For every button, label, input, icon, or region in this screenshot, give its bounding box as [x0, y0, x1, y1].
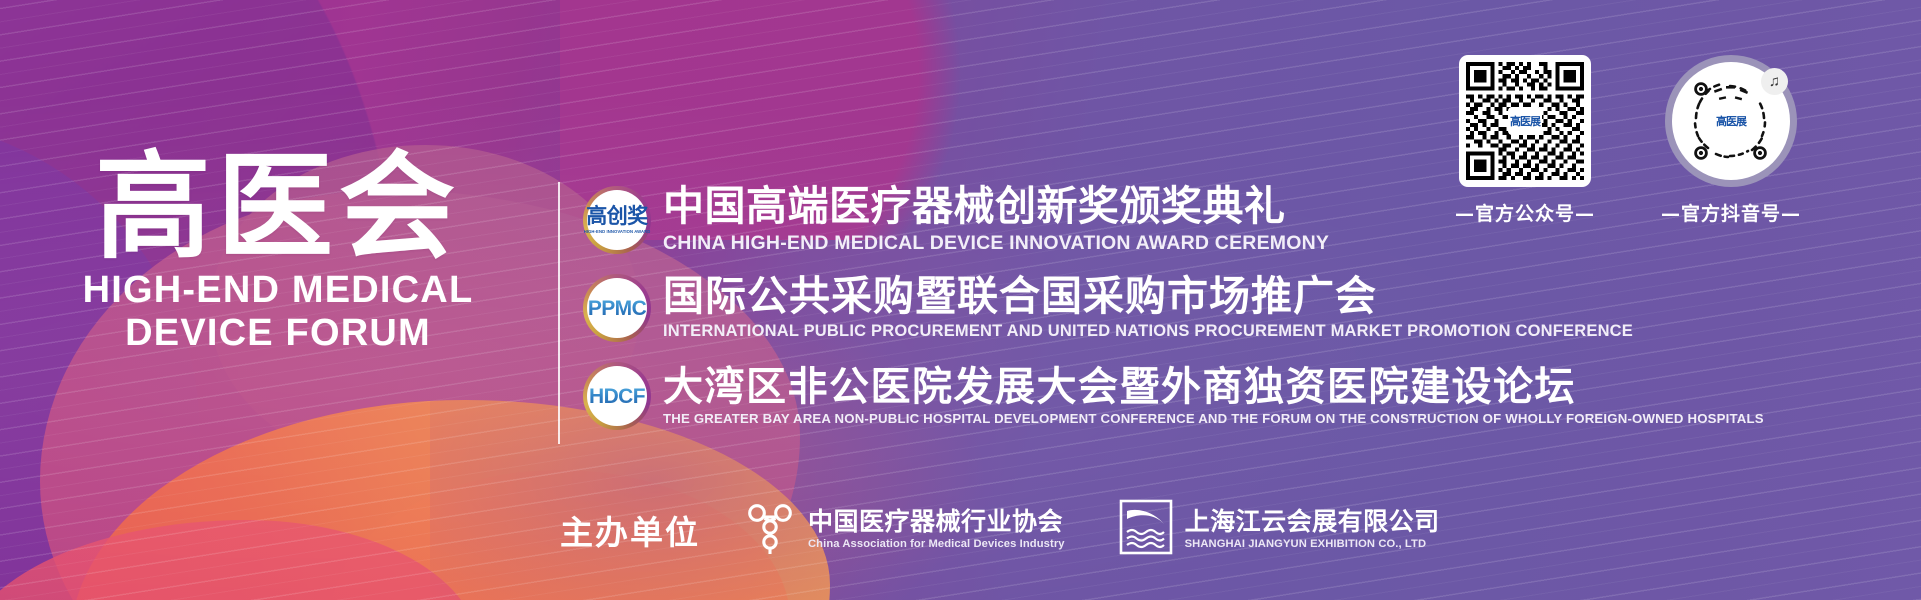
douyin-qr-caption: —官方抖音号—	[1661, 199, 1801, 226]
badge-abbreviation: HDCF	[589, 386, 645, 407]
conference-text: 国际公共采购暨联合国采购市场推广会 INTERNATIONAL PUBLIC P…	[663, 275, 1633, 340]
camdi-molecule-icon	[746, 498, 796, 561]
badge-label-english: HIGH-END INNOVATION AWARD	[584, 230, 651, 234]
organizers-label: 主办单位	[560, 506, 700, 554]
music-note-icon: ♫	[1761, 68, 1788, 95]
badge-inner-disc: HDCF	[587, 366, 647, 426]
brand-logo-chinese: 高医会	[78, 150, 478, 266]
qr-center-logo-text: 高医展	[1510, 116, 1540, 127]
conference-text: 大湾区非公医院发展大会暨外商独资医院建设论坛 THE GREATER BAY A…	[663, 366, 1764, 426]
conference-title-chinese: 中国高端医疗器械创新奖颁奖典礼	[663, 185, 1329, 228]
vertical-divider	[558, 182, 560, 444]
wechat-qr-caption: —官方公众号—	[1455, 199, 1595, 226]
award-seal-badge: 高创奖 HIGH-END INNOVATION AWARD	[583, 186, 651, 254]
douyin-qr-card[interactable]: 高医展 ♫	[1665, 55, 1797, 187]
conference-row: PPMC 国际公共采购暨联合国采购市场推广会 INTERNATIONAL PUB…	[583, 264, 1764, 352]
organizer-name-chinese: 上海江云会展有限公司	[1185, 508, 1440, 536]
qr-center-logo: 高医展	[1508, 107, 1542, 135]
organizer-name-chinese: 中国医疗器械行业协会	[808, 508, 1065, 536]
brand-logo-english-1: HIGH-END MEDICAL	[78, 270, 478, 312]
brand-logo-english-2: DEVICE FORUM	[78, 312, 478, 355]
badge-inner-disc: 高创奖 HIGH-END INNOVATION AWARD	[587, 190, 647, 250]
qr-center-logo: 高医展	[1714, 107, 1748, 135]
badge-label-chinese: 高创奖	[586, 206, 648, 227]
brand-logo-lockup: 高医会 HIGH-END MEDICAL DEVICE FORUM	[78, 150, 478, 354]
qr-center-logo-text: 高医展	[1716, 116, 1746, 127]
organizers-section: 主办单位 中国医	[560, 498, 1494, 561]
hdcf-badge: HDCF	[583, 362, 651, 430]
conference-title-english: THE GREATER BAY AREA NON-PUBLIC HOSPITAL…	[663, 411, 1764, 426]
wechat-qr-block: 高医展 —官方公众号—	[1455, 55, 1595, 226]
organizer-names: 中国医疗器械行业协会 China Association for Medical…	[808, 508, 1065, 551]
organizer-unit: 中国医疗器械行业协会 China Association for Medical…	[746, 498, 1065, 561]
organizer-name-english: China Association for Medical Devices In…	[808, 538, 1065, 551]
qr-codes-section: 高医展 —官方公众号—	[1455, 55, 1801, 226]
jiangyun-wave-icon	[1119, 499, 1173, 560]
organizer-unit: 上海江云会展有限公司 SHANGHAI JIANGYUN EXHIBITION …	[1119, 499, 1440, 560]
conference-row: HDCF 大湾区非公医院发展大会暨外商独资医院建设论坛 THE GREATER …	[583, 352, 1764, 440]
conference-title-english: CHINA HIGH-END MEDICAL DEVICE INNOVATION…	[663, 232, 1329, 255]
wechat-qr-card[interactable]: 高医展	[1459, 55, 1591, 187]
conference-text: 中国高端医疗器械创新奖颁奖典礼 CHINA HIGH-END MEDICAL D…	[663, 185, 1329, 254]
conference-title-chinese: 大湾区非公医院发展大会暨外商独资医院建设论坛	[663, 366, 1764, 408]
organizer-name-english: SHANGHAI JIANGYUN EXHIBITION CO., LTD	[1185, 538, 1440, 551]
event-banner: 高医会 HIGH-END MEDICAL DEVICE FORUM 高创奖 HI…	[0, 0, 1921, 600]
conference-title-english: INTERNATIONAL PUBLIC PROCUREMENT AND UNI…	[663, 322, 1633, 341]
conference-title-chinese: 国际公共采购暨联合国采购市场推广会	[663, 275, 1633, 318]
badge-abbreviation: PPMC	[588, 298, 646, 319]
organizer-names: 上海江云会展有限公司 SHANGHAI JIANGYUN EXHIBITION …	[1185, 508, 1440, 551]
badge-inner-disc: PPMC	[587, 278, 647, 338]
ppmc-badge: PPMC	[583, 274, 651, 342]
douyin-qr-block: 高医展 ♫ —官方抖音号—	[1661, 55, 1801, 226]
